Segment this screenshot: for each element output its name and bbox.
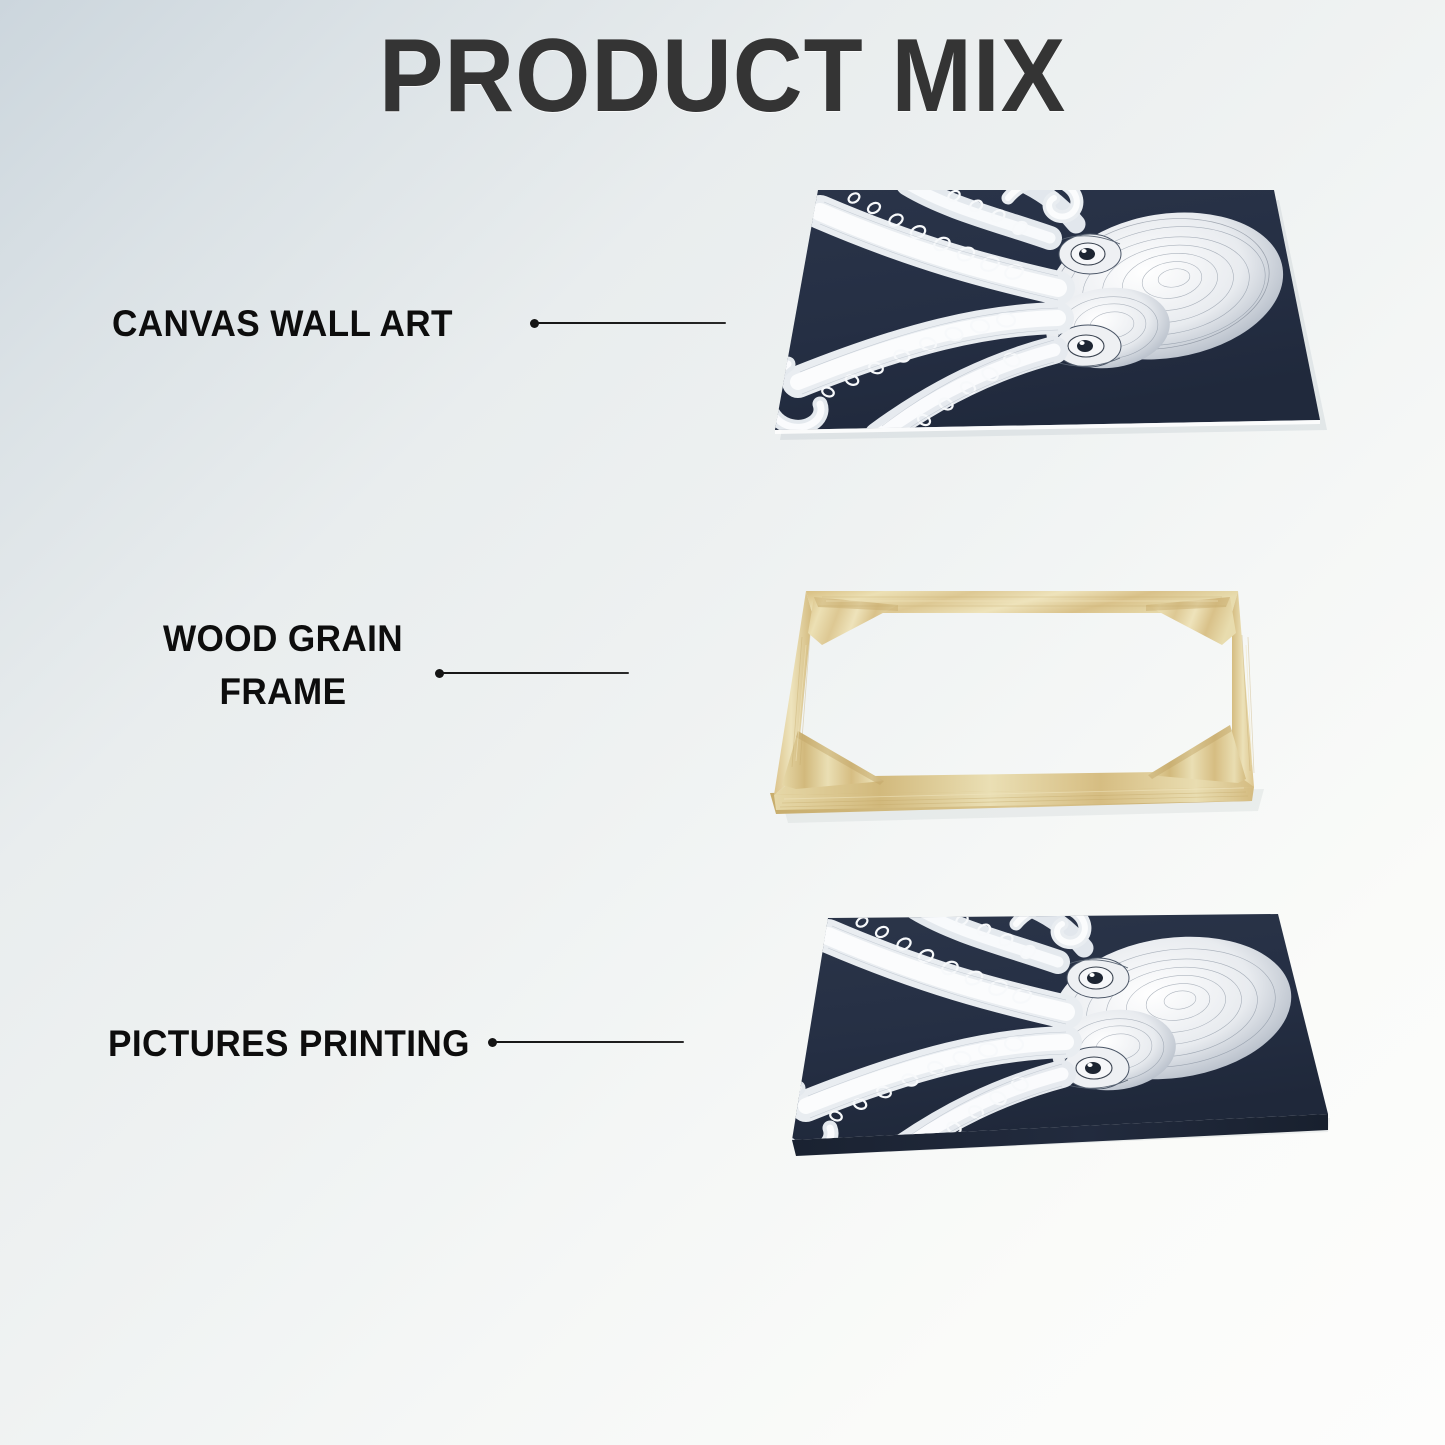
page-title: PRODUCT MIX [51,22,1395,131]
leader-rule [494,1041,684,1043]
product-image-canvas-wall-art [758,168,1338,453]
callout-label-wood-grain-frame: WOOD GRAIN FRAME [155,613,412,718]
callout-label-pictures-printing: PICTURES PRINTING [108,1023,479,1065]
octopus-eye-upper [1067,958,1129,998]
callout-label-canvas-wall-art: CANVAS WALL ART [112,303,492,345]
leader-rule [536,322,726,324]
product-image-canvas-print [780,900,1350,1185]
product-image-wood-grain-frame [752,575,1292,840]
leader-line-wood-grain-frame [435,666,631,680]
leader-line-canvas-wall-art [530,316,726,330]
leader-line-pictures-printing [488,1035,686,1049]
leader-rule [441,672,629,674]
product-infographic: PRODUCT MIX CANVAS WALL ART [0,0,1445,1445]
octopus-eye-upper [1059,234,1121,274]
